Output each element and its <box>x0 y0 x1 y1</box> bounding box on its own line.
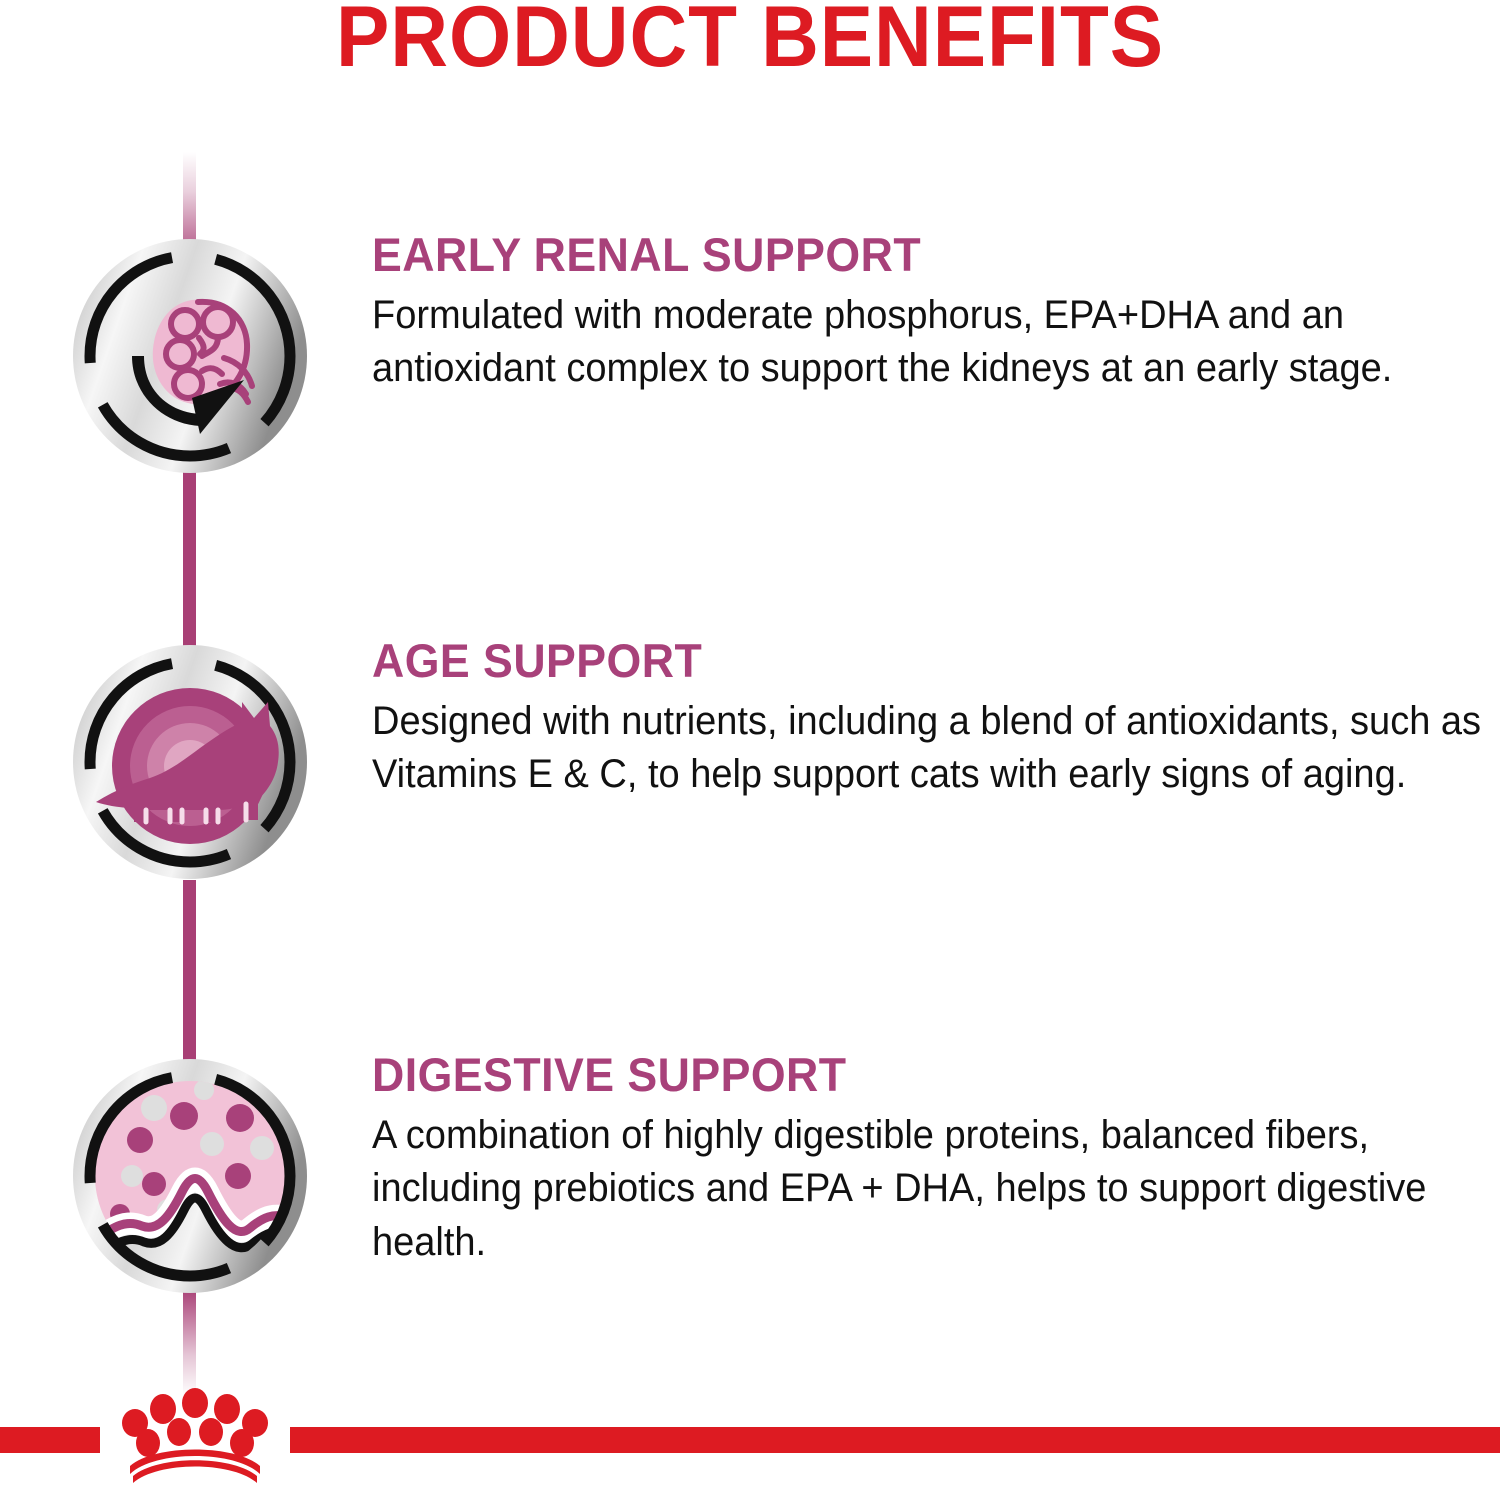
benefit-title: EARLY RENAL SUPPORT <box>372 230 1444 281</box>
benefit-text-early-renal-support: EARLY RENAL SUPPORT Formulated with mode… <box>372 230 1500 396</box>
kidney-renal-icon <box>72 238 308 474</box>
benefit-row-age-support: AGE SUPPORT Designed with nutrients, inc… <box>0 636 1500 936</box>
benefit-row-digestive-support: DIGESTIVE SUPPORT A combination of highl… <box>0 1050 1500 1350</box>
benefit-body: Formulated with moderate phosphorus, EPA… <box>372 289 1498 396</box>
benefit-body: A combination of highly digestible prote… <box>372 1109 1498 1270</box>
footer-bar-left <box>0 1427 100 1453</box>
benefit-text-digestive-support: DIGESTIVE SUPPORT A combination of highl… <box>372 1050 1500 1270</box>
product-benefits-page: PRODUCT BENEFITS <box>0 0 1500 1500</box>
benefit-body: Designed with nutrients, including a ble… <box>372 695 1498 802</box>
royal-canin-crown-logo <box>100 1388 290 1483</box>
page-title: PRODUCT BENEFITS <box>53 0 1448 87</box>
footer <box>0 1382 1500 1500</box>
walking-cat-icon <box>72 644 308 880</box>
benefit-row-early-renal-support: EARLY RENAL SUPPORT Formulated with mode… <box>0 230 1500 530</box>
benefit-title: AGE SUPPORT <box>372 636 1444 687</box>
footer-bar-right <box>290 1427 1500 1453</box>
benefit-title: DIGESTIVE SUPPORT <box>372 1050 1444 1101</box>
intestinal-villi-icon <box>72 1058 308 1294</box>
benefit-text-age-support: AGE SUPPORT Designed with nutrients, inc… <box>372 636 1500 802</box>
